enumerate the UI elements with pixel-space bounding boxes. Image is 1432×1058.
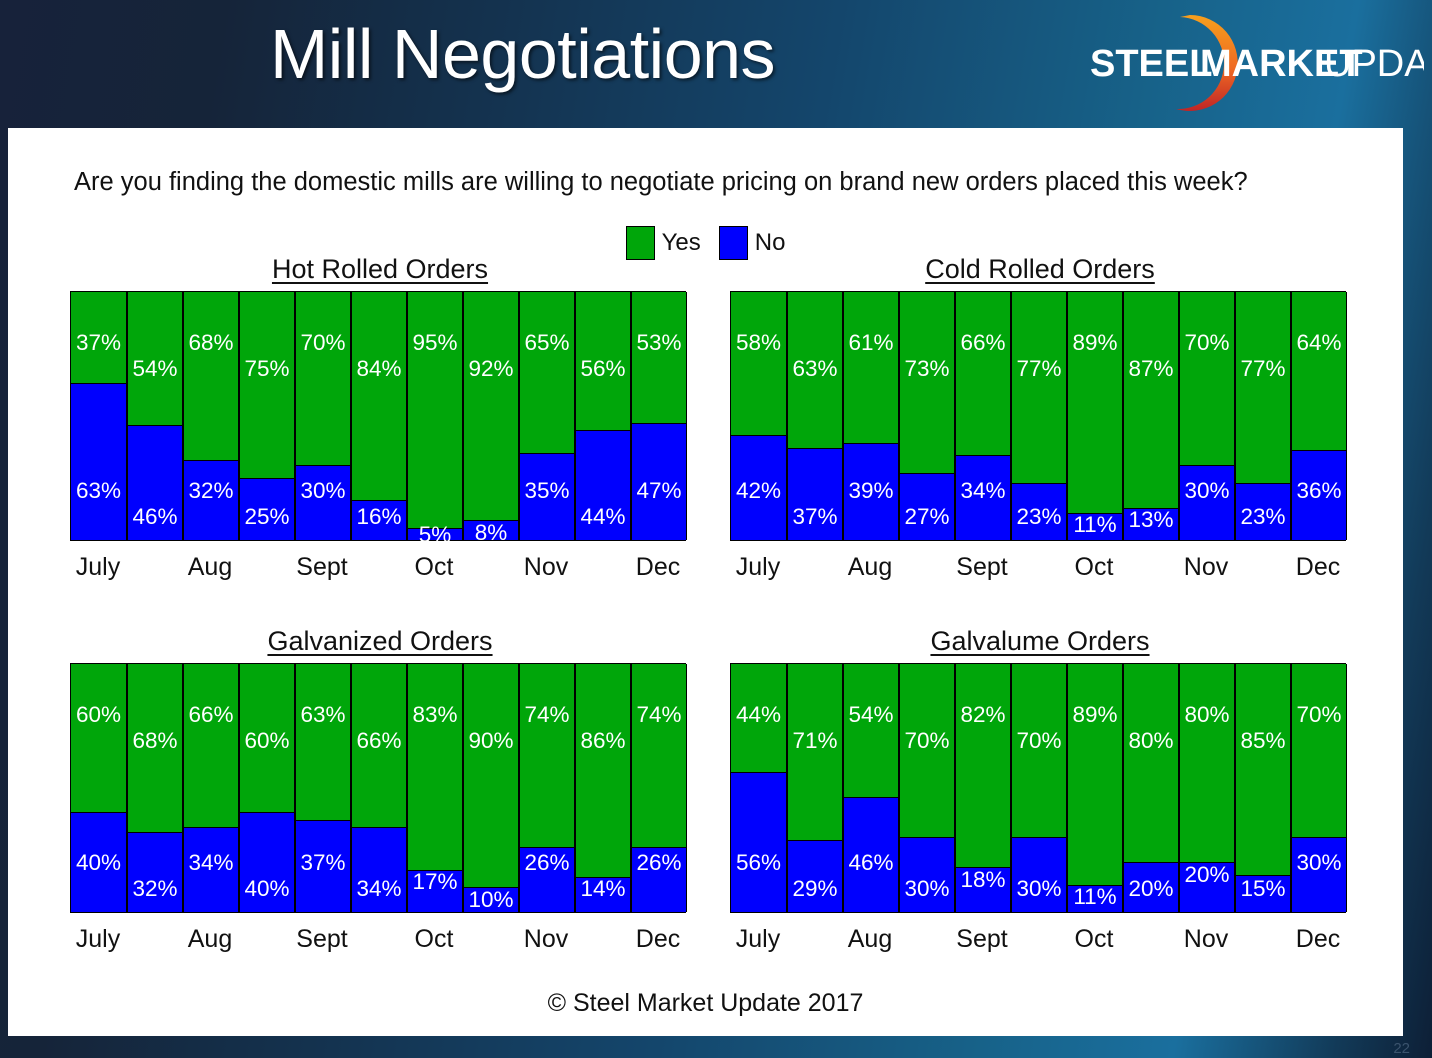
x-axis-tick-label: July <box>736 553 780 582</box>
stacked-bar[interactable]: 87%13% <box>1123 292 1179 540</box>
bar-segment-no <box>184 460 238 540</box>
bar-segment-no <box>632 423 686 541</box>
bar-segment-yes <box>844 292 898 445</box>
stacked-bar[interactable]: 89%11% <box>1067 292 1123 540</box>
bar-segment-no <box>128 832 182 912</box>
stacked-bar[interactable]: 92%8% <box>463 292 519 540</box>
bar-segment-yes <box>900 664 954 839</box>
copyright-notice: © Steel Market Update 2017 <box>8 989 1403 1018</box>
x-axis-tick-label: Aug <box>848 553 892 582</box>
bar-segment-no <box>900 473 954 541</box>
stacked-bar[interactable]: 54%46% <box>843 664 899 912</box>
bar-segment-no <box>576 430 630 540</box>
bar-segment-no <box>844 797 898 912</box>
stacked-bar[interactable]: 85%15% <box>1235 664 1291 912</box>
bar-segment-yes <box>1124 664 1178 864</box>
bar-segment-yes <box>1292 292 1346 452</box>
x-axis-tick-label: Dec <box>1296 925 1340 954</box>
bar-segment-yes <box>520 664 574 849</box>
stacked-bar[interactable]: 58%42% <box>731 292 787 540</box>
stacked-bar[interactable]: 71%29% <box>787 664 843 912</box>
stacked-bar[interactable]: 53%47% <box>631 292 687 540</box>
plot-area: 58%42%63%37%61%39%73%27%66%34%77%23%89%1… <box>730 291 1346 541</box>
bar-segment-no <box>71 383 126 541</box>
stacked-bar[interactable]: 70%30% <box>295 292 351 540</box>
bar-segment-no <box>520 847 574 912</box>
bar-segment-no <box>632 847 686 912</box>
bar-segment-no <box>1124 508 1178 541</box>
bar-segment-yes <box>576 664 630 879</box>
x-axis: JulyAugSeptOctNovDec <box>70 913 690 959</box>
x-axis-tick-label: Dec <box>636 553 680 582</box>
chart-hot-rolled-orders: Hot Rolled Orders37%63%54%46%68%32%75%25… <box>70 254 690 587</box>
bar-segment-yes <box>128 292 182 427</box>
slide-number: 22 <box>1393 1040 1410 1057</box>
bar-segment-no <box>240 812 294 912</box>
stacked-bar[interactable]: 63%37% <box>787 292 843 540</box>
stacked-bar[interactable]: 66%34% <box>351 664 407 912</box>
stacked-bar[interactable]: 37%63% <box>71 292 127 540</box>
stacked-bar[interactable]: 82%18% <box>955 664 1011 912</box>
x-axis-tick-label: July <box>736 925 780 954</box>
chart-galvalume-orders: Galvalume Orders44%56%71%29%54%46%70%30%… <box>730 626 1350 959</box>
stacked-bar[interactable]: 70%30% <box>1011 664 1067 912</box>
x-axis: JulyAugSeptOctNovDec <box>70 541 690 587</box>
stacked-bar[interactable]: 89%11% <box>1067 664 1123 912</box>
stacked-bar[interactable]: 80%20% <box>1179 664 1235 912</box>
stacked-bar[interactable]: 68%32% <box>127 664 183 912</box>
bar-segment-no <box>1236 875 1290 913</box>
bar-segment-yes <box>788 664 842 842</box>
x-axis: JulyAugSeptOctNovDec <box>730 541 1350 587</box>
stacked-bar[interactable]: 68%32% <box>183 292 239 540</box>
bar-segment-yes <box>1124 292 1178 510</box>
bar-segment-yes <box>1236 664 1290 877</box>
plot-area: 44%56%71%29%54%46%70%30%82%18%70%30%89%1… <box>730 663 1346 913</box>
stacked-bar[interactable]: 77%23% <box>1235 292 1291 540</box>
bar-segment-yes <box>296 292 350 467</box>
bar-segment-yes <box>844 664 898 799</box>
bar-segment-no <box>956 867 1010 912</box>
x-axis-tick-label: Aug <box>188 553 232 582</box>
bar-segment-no <box>184 827 238 912</box>
bar-segment-no <box>844 443 898 541</box>
x-axis-tick-label: Sept <box>956 925 1007 954</box>
bar-segment-yes <box>296 664 350 822</box>
stacked-bar[interactable]: 65%35% <box>519 292 575 540</box>
bar-segment-yes <box>956 292 1010 457</box>
bar-segment-no <box>731 435 786 540</box>
bar-segment-no <box>731 772 786 912</box>
bar-segment-no <box>1068 885 1122 913</box>
bar-segment-no <box>296 820 350 913</box>
stacked-bar[interactable]: 74%26% <box>519 664 575 912</box>
x-axis-tick-label: Nov <box>524 925 568 954</box>
bar-segment-no <box>1068 513 1122 541</box>
chart-title: Galvalume Orders <box>730 626 1350 657</box>
bar-segment-no <box>1012 483 1066 541</box>
stacked-bar[interactable]: 90%10% <box>463 664 519 912</box>
bar-segment-no <box>1124 862 1178 912</box>
bar-segment-no <box>352 500 406 540</box>
chart-title: Hot Rolled Orders <box>70 254 690 285</box>
x-axis-tick-label: Sept <box>296 553 347 582</box>
bar-segment-yes <box>71 292 126 385</box>
slide-content: Are you finding the domestic mills are w… <box>8 128 1403 1036</box>
survey-question: Are you finding the domestic mills are w… <box>74 168 1374 197</box>
x-axis-tick-label: Sept <box>296 925 347 954</box>
bar-segment-yes <box>520 292 574 455</box>
stacked-bar[interactable]: 74%26% <box>631 664 687 912</box>
bar-segment-yes <box>128 664 182 834</box>
stacked-bar[interactable]: 75%25% <box>239 292 295 540</box>
stacked-bar[interactable]: 63%37% <box>295 664 351 912</box>
bar-segment-yes <box>632 664 686 849</box>
x-axis-tick-label: Oct <box>1075 553 1114 582</box>
bar-segment-yes <box>1292 664 1346 839</box>
bar-segment-no <box>240 478 294 541</box>
chart-title: Cold Rolled Orders <box>730 254 1350 285</box>
bar-segment-yes <box>900 292 954 475</box>
legend-label-no: No <box>755 229 786 257</box>
bar-segment-no <box>352 827 406 912</box>
bar-segment-no <box>1292 450 1346 540</box>
stacked-bar[interactable]: 64%36% <box>1291 292 1347 540</box>
bar-segment-yes <box>408 664 462 872</box>
stacked-bar[interactable]: 70%30% <box>899 664 955 912</box>
stacked-bar[interactable]: 70%30% <box>1291 664 1347 912</box>
x-axis-tick-label: July <box>76 553 120 582</box>
bar-segment-yes <box>956 664 1010 869</box>
stacked-bar[interactable]: 54%46% <box>127 292 183 540</box>
bar-segment-yes <box>184 292 238 462</box>
stacked-bar[interactable]: 80%20% <box>1123 664 1179 912</box>
bar-segment-no <box>788 840 842 913</box>
bar-segment-yes <box>731 664 786 774</box>
bar-segment-yes <box>1068 292 1122 515</box>
bar-segment-no <box>1180 465 1234 540</box>
x-axis-tick-label: Sept <box>956 553 1007 582</box>
chart-title: Galvanized Orders <box>70 626 690 657</box>
stacked-bar[interactable]: 61%39% <box>843 292 899 540</box>
bar-segment-yes <box>632 292 686 425</box>
x-axis-tick-label: Nov <box>1184 553 1228 582</box>
bar-segment-yes <box>240 664 294 814</box>
steel-market-update-logo: STEEL MARKET UPDATE <box>1072 8 1424 118</box>
bar-segment-yes <box>1180 292 1234 467</box>
bar-segment-no <box>408 528 462 541</box>
bar-segment-no <box>1236 483 1290 541</box>
bar-segment-yes <box>408 292 462 530</box>
page-title: Mill Negotiations <box>270 14 775 94</box>
bar-segment-no <box>1180 862 1234 912</box>
bar-segment-yes <box>184 664 238 829</box>
bar-segment-no <box>520 453 574 541</box>
bar-segment-yes <box>1236 292 1290 485</box>
chart-cold-rolled-orders: Cold Rolled Orders58%42%63%37%61%39%73%2… <box>730 254 1350 587</box>
bar-segment-yes <box>71 664 126 814</box>
bar-segment-yes <box>352 292 406 502</box>
logo-text-update: UPDATE <box>1324 43 1424 85</box>
x-axis: JulyAugSeptOctNovDec <box>730 913 1350 959</box>
stacked-bar[interactable]: 84%16% <box>351 292 407 540</box>
stacked-bar[interactable]: 83%17% <box>407 664 463 912</box>
chart-galvanized-orders: Galvanized Orders60%40%68%32%66%34%60%40… <box>70 626 690 959</box>
bar-segment-yes <box>464 292 518 522</box>
bar-segment-no <box>1012 837 1066 912</box>
stacked-bar[interactable]: 95%5% <box>407 292 463 540</box>
x-axis-tick-label: Oct <box>415 925 454 954</box>
bar-segment-yes <box>464 664 518 889</box>
x-axis-tick-label: Oct <box>415 553 454 582</box>
bar-segment-no <box>128 425 182 540</box>
plot-area: 37%63%54%46%68%32%75%25%70%30%84%16%95%5… <box>70 291 686 541</box>
stacked-bar[interactable]: 60%40% <box>71 664 127 912</box>
x-axis-tick-label: Dec <box>1296 553 1340 582</box>
bar-segment-no <box>296 465 350 540</box>
stacked-bar[interactable]: 86%14% <box>575 664 631 912</box>
bar-segment-no <box>788 448 842 541</box>
bar-segment-no <box>900 837 954 912</box>
x-axis-tick-label: July <box>76 925 120 954</box>
stacked-bar[interactable]: 70%30% <box>1179 292 1235 540</box>
stacked-bar[interactable]: 44%56% <box>731 664 787 912</box>
logo-text-steel: STEEL <box>1090 43 1212 85</box>
bar-segment-yes <box>352 664 406 829</box>
stacked-bar[interactable]: 77%23% <box>1011 292 1067 540</box>
bar-segment-yes <box>1180 664 1234 864</box>
stacked-bar[interactable]: 66%34% <box>183 664 239 912</box>
bar-segment-yes <box>1012 292 1066 485</box>
bar-segment-no <box>1292 837 1346 912</box>
x-axis-tick-label: Aug <box>848 925 892 954</box>
bar-segment-no <box>71 812 126 912</box>
bar-segment-yes <box>1012 664 1066 839</box>
stacked-bar[interactable]: 56%44% <box>575 292 631 540</box>
bar-segment-yes <box>240 292 294 480</box>
stacked-bar[interactable]: 60%40% <box>239 664 295 912</box>
x-axis-tick-label: Dec <box>636 925 680 954</box>
bar-segment-no <box>464 520 518 540</box>
bar-segment-yes <box>576 292 630 432</box>
bar-segment-yes <box>731 292 786 437</box>
x-axis-tick-label: Oct <box>1075 925 1114 954</box>
slide-header: Mill Negotiations STEEL MARKET UPDATE <box>0 0 1432 128</box>
bar-segment-no <box>576 877 630 912</box>
bar-segment-yes <box>1068 664 1122 887</box>
bar-segment-no <box>464 887 518 912</box>
stacked-bar[interactable]: 66%34% <box>955 292 1011 540</box>
plot-area: 60%40%68%32%66%34%60%40%63%37%66%34%83%1… <box>70 663 686 913</box>
x-axis-tick-label: Nov <box>524 553 568 582</box>
bar-segment-yes <box>788 292 842 450</box>
legend-label-yes: Yes <box>662 229 701 257</box>
bar-segment-no <box>956 455 1010 540</box>
stacked-bar[interactable]: 73%27% <box>899 292 955 540</box>
x-axis-tick-label: Aug <box>188 925 232 954</box>
x-axis-tick-label: Nov <box>1184 925 1228 954</box>
bar-segment-no <box>408 870 462 913</box>
